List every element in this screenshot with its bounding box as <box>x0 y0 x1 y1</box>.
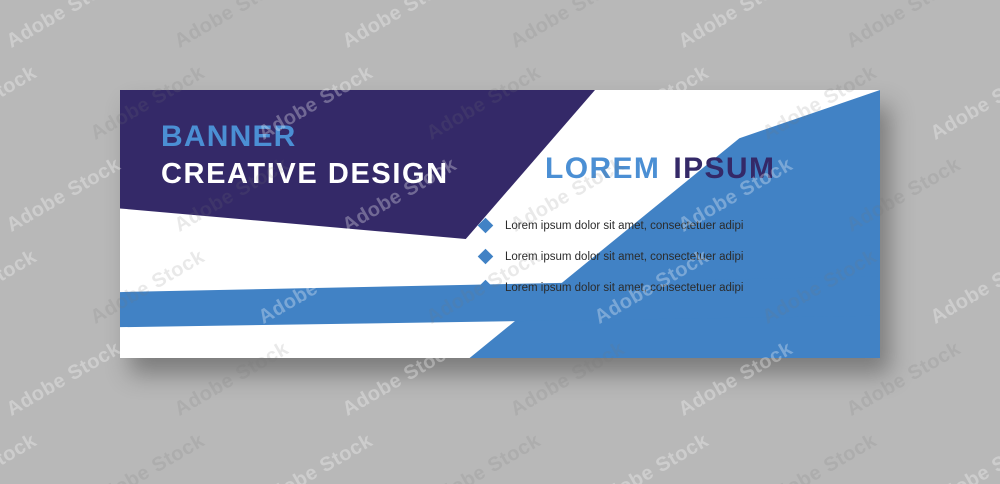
watermark-text: Adobe Stock <box>843 0 965 53</box>
watermark-text: Adobe Stock <box>0 62 41 146</box>
watermark-text: Adobe Stock <box>0 430 41 484</box>
bullet-list: Lorem ipsum dolor sit amet, consectetuer… <box>480 212 743 305</box>
watermark-text: Adobe Stock <box>927 246 1000 330</box>
watermark-text: Adobe Stock <box>675 0 797 53</box>
watermark-text: Adobe Stock <box>423 430 545 484</box>
watermark-text: Adobe Stock <box>339 0 461 53</box>
watermark-text: Adobe Stock <box>255 430 377 484</box>
diamond-bullet-icon <box>478 249 494 265</box>
diamond-bullet-icon <box>478 280 494 296</box>
banner-artboard: BANNER CREATIVE DESIGN LOREMIPSUM Lorem … <box>120 90 880 358</box>
list-item: Lorem ipsum dolor sit amet, consectetuer… <box>480 243 743 270</box>
diamond-bullet-icon <box>478 218 494 234</box>
list-item-label: Lorem ipsum dolor sit amet, consectetuer… <box>505 220 743 232</box>
list-item-label: Lorem ipsum dolor sit amet, consectetuer… <box>505 282 743 294</box>
watermark-text: Adobe Stock <box>87 430 209 484</box>
list-item-label: Lorem ipsum dolor sit amet, consectetuer… <box>505 251 743 263</box>
list-item: Lorem ipsum dolor sit amet, consectetuer… <box>480 212 743 239</box>
watermark-text: Adobe Stock <box>759 430 881 484</box>
canvas: BANNER CREATIVE DESIGN LOREMIPSUM Lorem … <box>0 0 1000 484</box>
headline-line-2: CREATIVE DESIGN <box>161 158 449 191</box>
watermark-text: Adobe Stock <box>171 0 293 53</box>
watermark-text: Adobe Stock <box>3 338 125 422</box>
banner-title-part-1: LOREM <box>545 152 660 185</box>
watermark-text: Adobe Stock <box>3 0 125 53</box>
banner-title: LOREMIPSUM <box>545 152 775 186</box>
watermark-text: Adobe Stock <box>0 246 41 330</box>
headline-line-1: BANNER <box>161 120 297 154</box>
watermark-text: Adobe Stock <box>591 430 713 484</box>
list-item: Lorem ipsum dolor sit amet, consectetuer… <box>480 274 743 301</box>
banner-title-part-2: IPSUM <box>673 152 775 185</box>
watermark-text: Adobe Stock <box>507 0 629 53</box>
watermark-text: Adobe Stock <box>927 62 1000 146</box>
watermark-text: Adobe Stock <box>927 430 1000 484</box>
watermark-text: Adobe Stock <box>3 154 125 238</box>
